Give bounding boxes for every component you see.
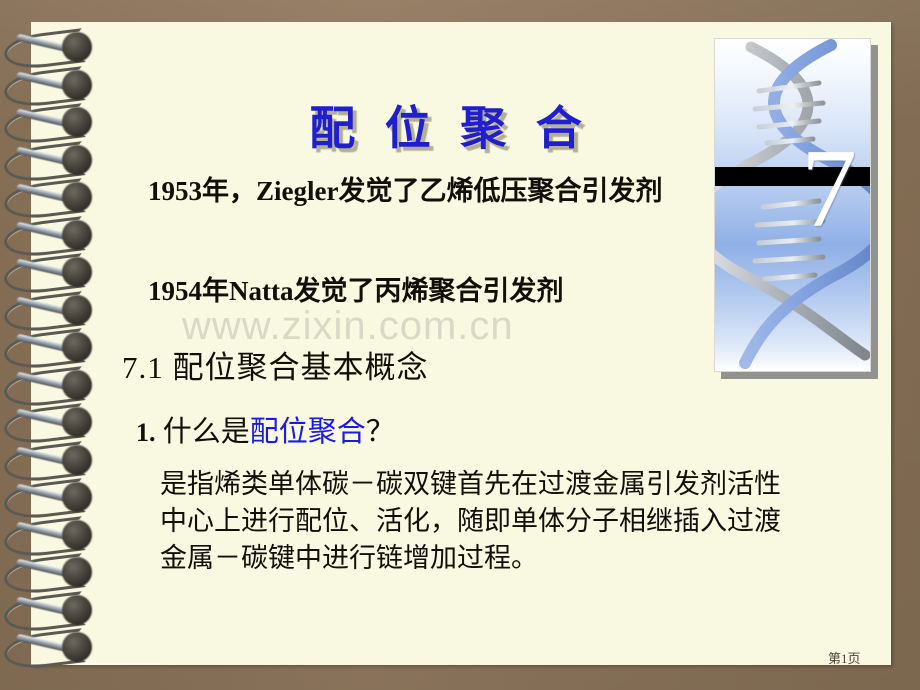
binding-coil [4,555,96,589]
binding-coil [4,143,96,177]
section-heading: 7.1 配位聚合基本概念 [122,342,429,387]
binding-hole [62,70,92,100]
definition-paragraph: 是指烯类单体碳－碳双键首先在过渡金属引发剂活性中心上进行配位、活化，随即单体分子… [160,466,790,577]
binding-coil [4,293,96,327]
binding-coil [4,30,96,64]
question-prefix: 什么是 [163,416,250,448]
page-title: 配 位 聚 合 [210,92,690,158]
binding-coil [4,330,96,364]
slide-canvas: 配 位 聚 合 www.zixin.com.cn 1953年，Ziegler发觉… [0,0,920,690]
binding-coil [4,68,96,102]
binding-hole [62,145,92,175]
spiral-wire-binding [0,0,115,690]
binding-hole [62,220,92,250]
binding-hole [62,332,92,362]
binding-coil [4,105,96,139]
binding-hole [62,595,92,625]
intro-line-1: 1953年，Ziegler发觉了乙烯低压聚合引发剂 [148,172,708,211]
question-suffix: ？ [366,416,395,448]
binding-hole [62,295,92,325]
question-line: 1. 什么是配位聚合？ [136,408,395,450]
binding-hole [62,557,92,587]
intro-line-2: 1954年Natta发觉了丙烯聚合引发剂 [148,272,728,310]
binding-coil [4,443,96,477]
binding-coil [4,593,96,627]
binding-coil [4,405,96,439]
binding-coil [4,368,96,402]
binding-hole [62,370,92,400]
binding-hole [62,520,92,550]
binding-hole [62,632,92,662]
binding-hole [62,445,92,475]
page-number: 第1页 [828,648,861,667]
dna-double-helix-image: 7 [714,38,871,372]
binding-hole [62,32,92,62]
binding-coil [4,255,96,289]
chapter-number: 7 [801,133,857,245]
binding-coil [4,480,96,514]
binding-coil [4,180,96,214]
binding-hole [62,107,92,137]
binding-coil [4,218,96,252]
binding-hole [62,182,92,212]
binding-hole [62,257,92,287]
binding-coil [4,630,96,664]
question-highlight-term: 配位聚合 [250,416,366,448]
binding-coil [4,518,96,552]
question-number: 1. [136,418,156,447]
binding-hole [62,407,92,437]
binding-hole [62,482,92,512]
